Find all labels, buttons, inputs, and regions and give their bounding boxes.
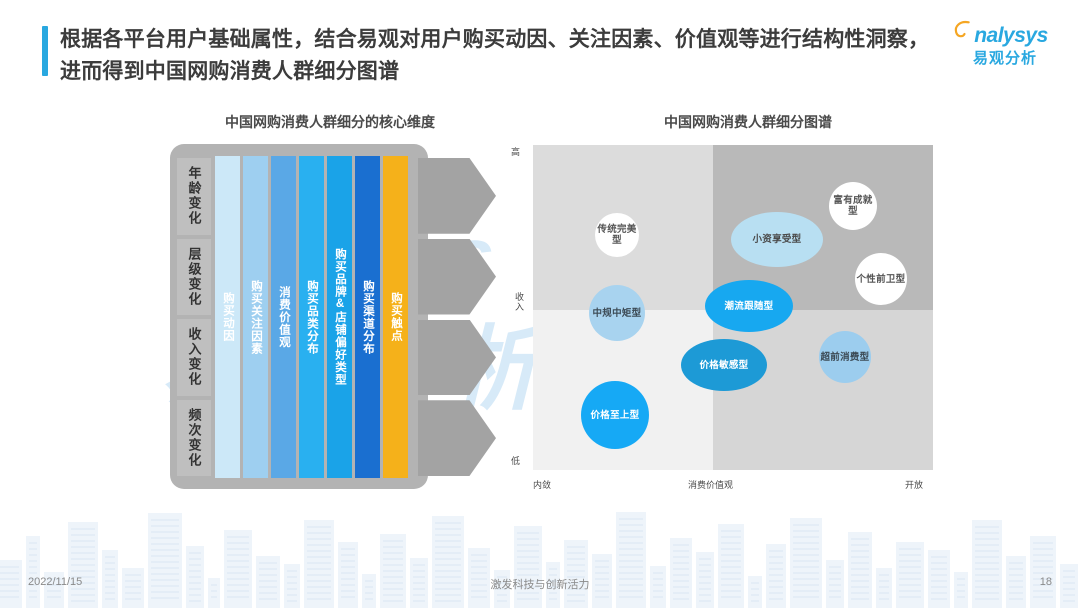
axis-y-label: 收入 [513, 292, 524, 312]
dimension-column: 消费价值观 [271, 156, 296, 478]
axis-y-low: 低 [511, 454, 520, 467]
page-title: 根据各平台用户基础属性，结合易观对用户购买动因、关注因素、价值观等进行结构性洞察… [60, 24, 940, 88]
dimension-column: 购买品牌&店铺偏好类型 [327, 156, 352, 478]
axis-x-right: 开放 [905, 478, 923, 491]
arrow-shape-icon [418, 320, 496, 396]
slide-header: 根据各平台用户基础属性，结合易观对用户购买动因、关注因素、价值观等进行结构性洞察… [0, 0, 1080, 100]
arrow-shape-icon [418, 239, 496, 315]
arrow-shape-icon [418, 158, 496, 234]
dimension-label: 层级变化 [177, 239, 211, 316]
footer-page-number: 18 [1040, 576, 1052, 588]
arrow-group [418, 158, 496, 476]
dimension-column: 购买渠道分布 [355, 156, 380, 478]
quadrant-bottom-right [713, 310, 933, 470]
segment-bubble[interactable]: 富有成就型 [829, 182, 877, 230]
axis-x-label: 消费价值观 [688, 478, 733, 491]
analysys-logo: nalysys 易观分析 [944, 24, 1066, 82]
dimension-column-group: 购买动因购买关注因素消费价值观购买品类分布购买品牌&店铺偏好类型购买渠道分布购买… [215, 156, 408, 478]
slide-footer: 2022/11/15 激发科技与创新活力 18 [0, 564, 1080, 608]
dimension-stack: 年龄变化层级变化收入变化频次变化 购买动因购买关注因素消费价值观购买品类分布购买… [160, 144, 500, 489]
dimension-column: 购买关注因素 [243, 156, 268, 478]
dimension-label-group: 年龄变化层级变化收入变化频次变化 [177, 158, 211, 476]
segment-bubble[interactable]: 个性前卫型 [855, 253, 907, 305]
axis-x-left: 内敛 [533, 478, 551, 491]
dimension-label: 频次变化 [177, 400, 211, 477]
segment-bubble[interactable]: 超前消费型 [819, 331, 871, 383]
core-dimensions-title: 中国网购消费人群细分的核心维度 [160, 112, 500, 132]
dimension-column: 购买动因 [215, 156, 240, 478]
logo-swoosh-icon [952, 19, 972, 39]
segmentation-matrix-panel: 中国网购消费人群细分图谱 传统完美型富有成就型小资享受型个性前卫型中规中矩型潮流… [505, 112, 965, 492]
arrow-shape-icon [418, 400, 496, 476]
dimension-label: 年龄变化 [177, 158, 211, 235]
segment-bubble[interactable]: 价格至上型 [581, 381, 649, 449]
dimension-column: 购买触点 [383, 156, 408, 478]
segment-bubble[interactable]: 小资享受型 [731, 212, 823, 267]
logo-wordmark: nalysys [974, 24, 1048, 47]
axis-y-high: 高 [511, 145, 520, 158]
dimension-column: 购买品类分布 [299, 156, 324, 478]
dimension-label: 收入变化 [177, 319, 211, 396]
segment-bubble[interactable]: 中规中矩型 [589, 285, 645, 341]
logo-chinese-name: 易观分析 [944, 49, 1066, 69]
footer-slogan: 激发科技与创新活力 [0, 576, 1080, 592]
segment-bubble[interactable]: 价格敏感型 [681, 339, 767, 391]
title-accent-bar [42, 26, 48, 76]
segment-bubble[interactable]: 传统完美型 [595, 213, 639, 257]
matrix-title: 中国网购消费人群细分图谱 [505, 112, 965, 132]
matrix-area: 传统完美型富有成就型小资享受型个性前卫型中规中矩型潮流跟随型超前消费型价格敏感型… [533, 145, 933, 470]
segment-bubble[interactable]: 潮流跟随型 [705, 280, 793, 332]
core-dimensions-panel: 中国网购消费人群细分的核心维度 年龄变化层级变化收入变化频次变化 购买动因购买关… [160, 112, 500, 492]
